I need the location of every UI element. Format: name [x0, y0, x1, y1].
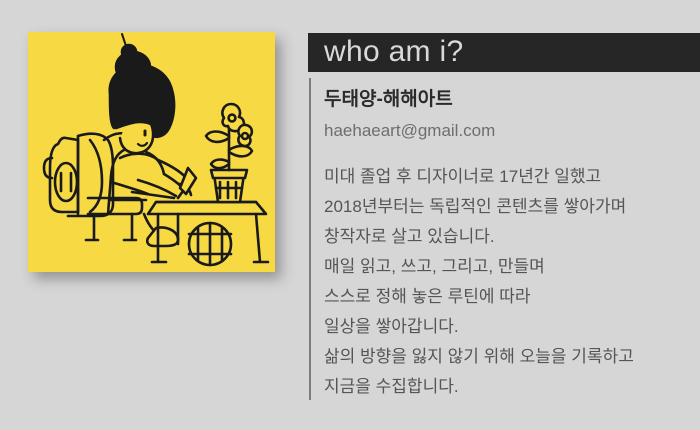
profile-email[interactable]: haehaeart@gmail.com — [324, 118, 700, 144]
bio-line: 삶의 방향을 잃지 않기 위해 오늘을 기록하고 — [324, 342, 700, 372]
bio-line: 창작자로 살고 있습니다. — [324, 222, 700, 252]
bio-line: 일상을 쌓아갑니다. — [324, 312, 700, 342]
potted-plant-icon — [206, 104, 252, 202]
ball-icon — [189, 223, 231, 265]
bio-line: 지금을 수집합니다. — [324, 372, 700, 402]
bio-line: 미대 졸업 후 디자이너로 17년간 일했고 — [324, 162, 700, 192]
bio-line: 스스로 정해 놓은 루틴에 따라 — [324, 282, 700, 312]
profile-name: 두태양-해해아트 — [324, 86, 700, 114]
page-title: who am i? — [324, 30, 463, 74]
profile-panel: who am i? 두태양-해해아트 haehaeart@gmail.com 미… — [308, 0, 700, 430]
profile-bio: 미대 졸업 후 디자이너로 17년간 일했고2018년부터는 독립적인 콘텐츠를… — [324, 162, 700, 402]
profile-body: 두태양-해해아트 haehaeart@gmail.com 미대 졸업 후 디자이… — [324, 78, 700, 402]
panel-left-divider — [309, 78, 311, 400]
illustration-card — [28, 32, 275, 272]
bio-line: 2018년부터는 독립적인 콘텐츠를 쌓아가며 — [324, 192, 700, 222]
backpack-icon — [44, 134, 113, 216]
bio-line: 매일 읽고, 쓰고, 그리고, 만들며 — [324, 252, 700, 282]
person-writing-at-desk-illustration — [28, 32, 275, 272]
